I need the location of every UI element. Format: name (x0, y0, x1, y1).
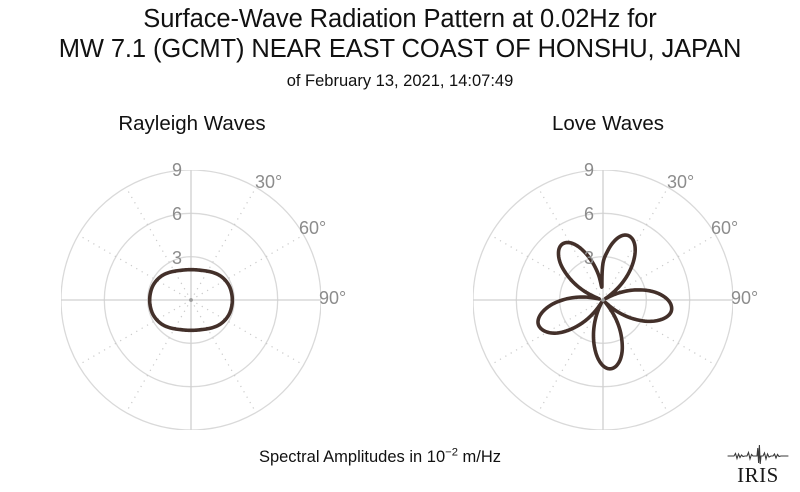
iris-wordmark: IRIS (737, 463, 779, 487)
love-panel-title: Love Waves (416, 112, 800, 136)
caption-text-pre: Spectral Amplitudes in 10 (259, 448, 445, 466)
love-angle-label-90: 90° (731, 288, 758, 309)
love-angle-label-30: 30° (667, 172, 694, 193)
rayleigh-angle-label-30: 30° (255, 172, 282, 193)
rayleigh-radial-label-9: 9 (172, 160, 182, 181)
love-polar-svg (473, 170, 733, 430)
figure-title-block: Surface-Wave Radiation Pattern at 0.02Hz… (0, 4, 800, 93)
love-angular-spoke-60 (603, 235, 716, 300)
seismogram-icon (728, 445, 788, 464)
rayleigh-angular-spoke-240 (78, 300, 191, 365)
love-center-dot (601, 298, 605, 302)
rayleigh-center-dot (189, 298, 193, 302)
rayleigh-angle-label-60: 60° (299, 218, 326, 239)
figure-caption: Spectral Amplitudes in 10−2 m/Hz (0, 448, 760, 467)
rayleigh-radial-label-3: 3 (172, 248, 182, 269)
caption-text-post: m/Hz (458, 448, 501, 466)
love-radial-label-6: 6 (584, 204, 594, 225)
caption-exponent: −2 (445, 447, 458, 459)
rayleigh-polar-svg (61, 170, 321, 430)
love-angular-spoke-210 (538, 300, 603, 413)
love-polar-plot (473, 170, 733, 430)
rayleigh-angle-label-90: 90° (319, 288, 346, 309)
rayleigh-angular-spoke-150 (191, 300, 256, 413)
page-title-line-1: Surface-Wave Radiation Pattern at 0.02Hz… (0, 4, 800, 34)
rayleigh-polar-plot (61, 170, 321, 430)
page-title-line-2: MW 7.1 (GCMT) NEAR EAST COAST OF HONSHU,… (0, 34, 800, 64)
love-pattern-curve (538, 235, 672, 369)
love-radial-label-9: 9 (584, 160, 594, 181)
rayleigh-radial-label-6: 6 (172, 204, 182, 225)
love-radial-label-3: 3 (584, 248, 594, 269)
radiation-pattern-figure: Surface-Wave Radiation Pattern at 0.02Hz… (0, 0, 800, 492)
rayleigh-angular-spoke-120 (191, 300, 304, 365)
love-angle-label-60: 60° (711, 218, 738, 239)
rayleigh-angular-spoke-60 (191, 235, 304, 300)
iris-logo-svg: IRIS (726, 443, 790, 487)
page-subtitle: of February 13, 2021, 14:07:49 (0, 69, 800, 93)
rayleigh-angular-spoke-210 (126, 300, 191, 413)
love-angular-spoke-150 (603, 300, 668, 413)
rayleigh-angular-spoke-30 (191, 187, 256, 300)
rayleigh-panel-title: Rayleigh Waves (0, 112, 384, 136)
iris-logo: IRIS (726, 443, 790, 487)
